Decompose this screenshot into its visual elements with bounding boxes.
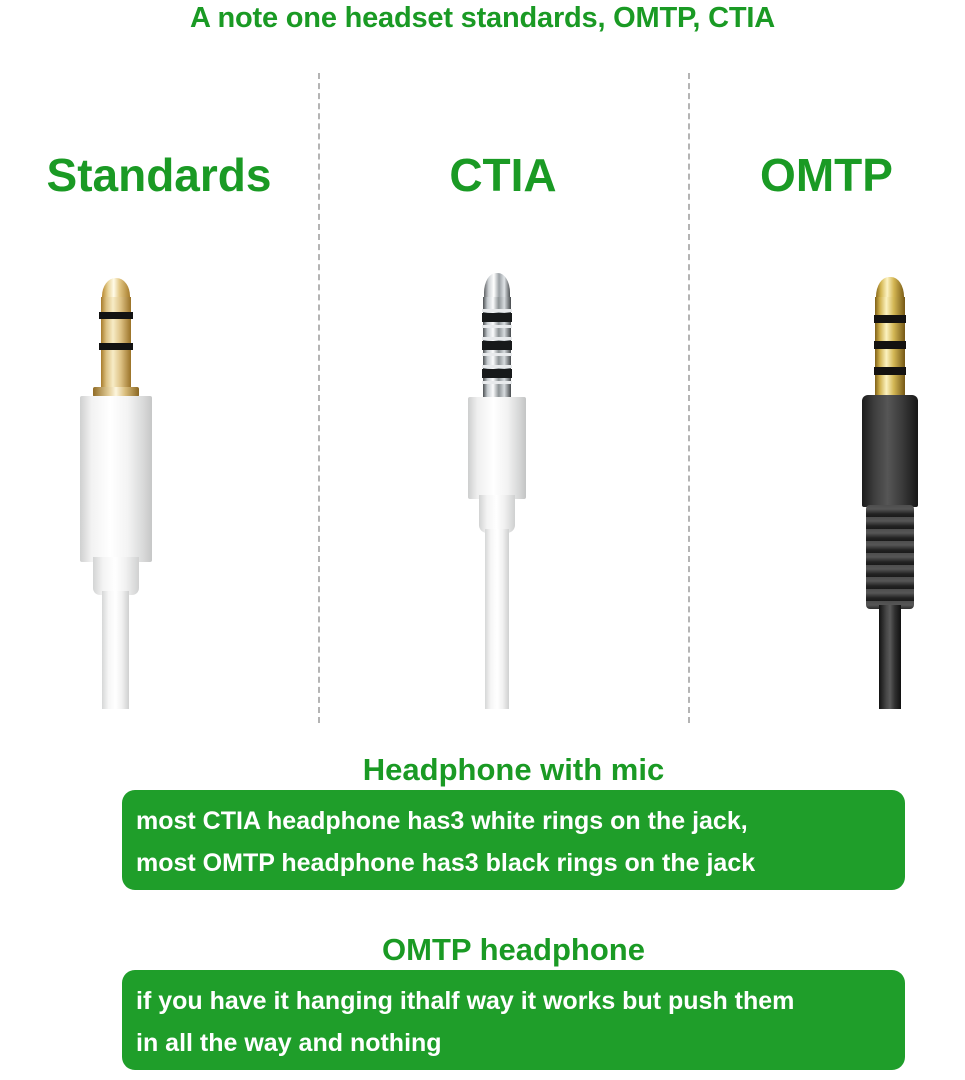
column-heading-omtp: OMTP — [688, 152, 965, 198]
column-heading-standards: Standards — [0, 152, 318, 198]
jack-groove-icon — [482, 325, 512, 328]
jack-ring-icon — [874, 341, 906, 349]
jack-groove-icon — [482, 337, 512, 340]
jack-ring-icon — [482, 341, 512, 350]
jack-groove-icon — [482, 353, 512, 356]
jack-barrel-icon — [862, 395, 918, 507]
jack-cable-icon — [102, 591, 129, 709]
jack-groove-icon — [482, 309, 512, 312]
jack-strain-relief-icon — [866, 505, 914, 609]
jack-ring-icon — [874, 367, 906, 375]
note-box-omtp-headphone: if you have it hanging ithalf way it wor… — [122, 970, 905, 1070]
jack-barrel-icon — [80, 396, 152, 562]
note-heading-omtp-headphone: OMTP headphone — [122, 932, 905, 968]
jack-groove-icon — [482, 365, 512, 368]
note-line: most OMTP headphone has3 black rings on … — [136, 842, 891, 884]
jack-cable-icon — [879, 605, 901, 709]
jack-shaft-icon — [875, 297, 905, 401]
jack-ring-icon — [482, 313, 512, 322]
jack-ring-icon — [99, 343, 133, 350]
note-heading-headphone-with-mic: Headphone with mic — [122, 752, 905, 788]
jack-neck-icon — [479, 495, 515, 533]
jack-neck-icon — [93, 557, 139, 595]
jack-cable-icon — [485, 529, 509, 709]
note-line: if you have it hanging ithalf way it wor… — [136, 980, 891, 1022]
note-line: most CTIA headphone has3 white rings on … — [136, 800, 891, 842]
jack-barrel-icon — [468, 397, 526, 499]
jack-ring-icon — [99, 312, 133, 319]
jack-groove-icon — [482, 381, 512, 384]
jack-ring-icon — [874, 315, 906, 323]
column-heading-ctia: CTIA — [318, 152, 688, 198]
jack-ring-icon — [482, 369, 512, 378]
page-title: A note one headset standards, OMTP, CTIA — [0, 2, 965, 35]
note-line: in all the way and nothing — [136, 1022, 891, 1064]
infographic-page: A note one headset standards, OMTP, CTIA… — [0, 0, 965, 1080]
note-box-headphone-with-mic: most CTIA headphone has3 white rings on … — [122, 790, 905, 890]
